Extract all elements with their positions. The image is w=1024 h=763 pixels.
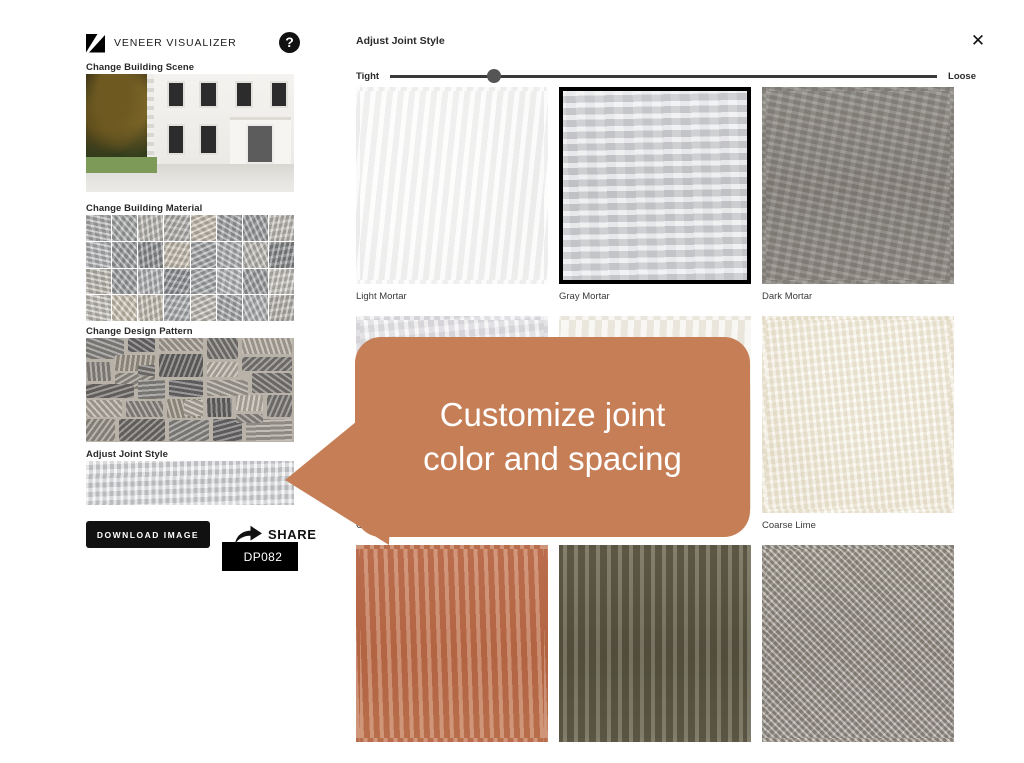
joint-style-tile[interactable]: Gray Mortar [559, 87, 751, 302]
material-swatch[interactable] [269, 269, 294, 295]
scene-house [153, 74, 294, 164]
joint-style-swatch[interactable] [762, 316, 954, 513]
pattern-stone [207, 398, 232, 416]
pattern-stone [126, 401, 164, 416]
pattern-stone [184, 400, 203, 415]
sidebar-thumb-joint-style[interactable] [86, 461, 294, 505]
material-swatch[interactable] [243, 295, 268, 321]
callout-bubble: Customize jointcolor and spacing [355, 337, 750, 537]
pattern-stone [207, 362, 238, 377]
sidebar-label-building-scene: Change Building Scene [86, 62, 194, 73]
material-swatch[interactable] [164, 269, 189, 295]
material-swatch[interactable] [86, 242, 111, 268]
sidebar: VENEER VISUALIZER ? Change Building Scen… [86, 0, 298, 571]
pattern-stone [86, 362, 111, 381]
material-swatch[interactable] [191, 269, 216, 295]
material-swatch[interactable] [269, 295, 294, 321]
pattern-stone [169, 380, 202, 397]
material-swatch[interactable] [164, 242, 189, 268]
material-swatch[interactable] [138, 242, 163, 268]
veneer-logo-icon [86, 34, 105, 53]
material-swatch[interactable] [164, 215, 189, 241]
sidebar-label-building-material: Change Building Material [86, 203, 202, 214]
joint-style-tile[interactable]: Dark Mortar [762, 87, 954, 302]
joint-style-caption: Dark Mortar [762, 291, 954, 302]
pattern-stone [242, 357, 292, 371]
pattern-stone [138, 380, 165, 399]
joint-style-swatch[interactable] [356, 87, 548, 284]
material-swatch[interactable] [112, 269, 137, 295]
pattern-stone [207, 380, 249, 396]
material-swatch[interactable] [86, 269, 111, 295]
joint-style-caption: Coarse Lime [762, 520, 954, 531]
slider-track-wrap[interactable] [390, 67, 937, 85]
material-swatch[interactable] [112, 215, 137, 241]
material-swatch[interactable] [191, 242, 216, 268]
material-swatch[interactable] [138, 269, 163, 295]
material-swatch[interactable] [269, 242, 294, 268]
pattern-stone [236, 414, 263, 423]
tile-row: Light MortarGray MortarDark Mortar [356, 87, 956, 302]
material-swatch[interactable] [191, 215, 216, 241]
joint-style-caption: Light Mortar [356, 291, 548, 302]
material-swatch[interactable] [112, 242, 137, 268]
sidebar-label-design-pattern: Change Design Pattern [86, 326, 193, 337]
pattern-stone [242, 338, 292, 354]
material-swatch[interactable] [269, 215, 294, 241]
joint-style-swatch[interactable] [356, 545, 548, 742]
share-arrow-icon [234, 525, 263, 545]
sidebar-thumb-design-pattern[interactable] [86, 338, 294, 442]
material-swatch[interactable] [138, 215, 163, 241]
pattern-stone [119, 419, 165, 440]
material-swatch[interactable] [217, 295, 242, 321]
callout-line-2: color and spacing [423, 437, 682, 481]
scene-trees [86, 74, 155, 166]
joint-style-tile[interactable]: Light Mortar [356, 87, 548, 302]
material-swatch[interactable] [86, 215, 111, 241]
material-swatch[interactable] [217, 242, 242, 268]
pattern-stone [86, 419, 115, 440]
panel-title: Adjust Joint Style [356, 35, 445, 47]
pattern-stone [86, 400, 122, 416]
material-swatch[interactable] [164, 295, 189, 321]
pattern-stone [86, 384, 134, 398]
callout-line-1: Customize joint [423, 393, 682, 437]
pattern-stone [128, 338, 155, 352]
slider-max-label: Loose [948, 71, 976, 82]
help-circle-icon[interactable]: ? [279, 32, 300, 53]
tile-row [356, 545, 956, 749]
joint-style-tile[interactable] [762, 545, 954, 749]
joint-style-swatch[interactable] [762, 545, 954, 742]
pattern-stone [207, 338, 238, 359]
material-swatch[interactable] [138, 295, 163, 321]
pattern-stone [169, 420, 209, 440]
joint-style-tile[interactable] [356, 545, 548, 749]
callout-text: Customize jointcolor and spacing [401, 393, 704, 481]
close-icon[interactable]: ✕ [967, 30, 989, 52]
pattern-stone [138, 365, 155, 376]
pattern-stone [236, 395, 263, 411]
material-swatch[interactable] [243, 242, 268, 268]
joint-style-swatch[interactable] [559, 87, 751, 284]
joint-style-caption: Gray Mortar [559, 291, 751, 302]
joint-style-tile[interactable] [559, 545, 751, 749]
app-title: VENEER VISUALIZER [114, 37, 237, 49]
joint-style-swatch[interactable] [559, 545, 751, 742]
material-swatch[interactable] [86, 295, 111, 321]
material-swatch[interactable] [243, 269, 268, 295]
slider-min-label: Tight [356, 71, 379, 82]
material-swatch[interactable] [217, 215, 242, 241]
sidebar-thumb-building-scene[interactable] [86, 74, 294, 192]
scene-lawn [86, 157, 157, 174]
joint-style-swatch[interactable] [762, 87, 954, 284]
joint-style-tile[interactable]: Coarse Lime [762, 316, 954, 531]
material-swatch[interactable] [112, 295, 137, 321]
material-swatch[interactable] [243, 215, 268, 241]
material-swatch[interactable] [217, 269, 242, 295]
slider-handle[interactable] [487, 69, 501, 83]
material-swatch[interactable] [191, 295, 216, 321]
sidebar-label-joint-style: Adjust Joint Style [86, 449, 168, 460]
brand-row: VENEER VISUALIZER [86, 33, 298, 53]
pattern-stone [159, 338, 203, 351]
download-image-button[interactable]: DOWNLOAD IMAGE [86, 521, 210, 548]
joint-spacing-slider[interactable]: Tight Loose [356, 66, 976, 86]
slider-track[interactable] [390, 75, 937, 78]
sidebar-thumb-building-material[interactable] [86, 215, 294, 321]
pattern-stone [159, 354, 203, 378]
